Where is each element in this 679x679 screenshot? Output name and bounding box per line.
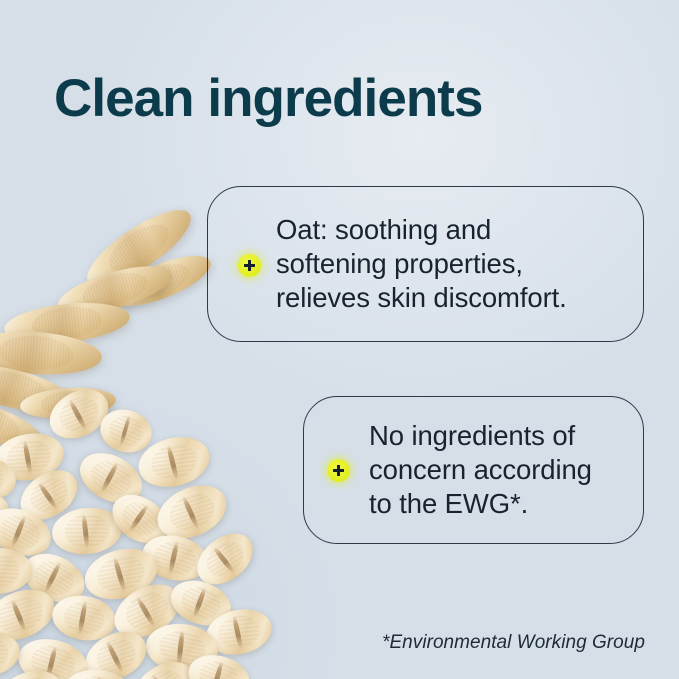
feature-card-ewg-text: No ingredients of concern according to t… [369,419,592,521]
feature-card-ewg[interactable]: No ingredients of concern according to t… [303,396,644,544]
plus-icon [244,260,255,271]
feature-card-oat-text: Oat: soothing and softening properties, … [276,213,567,315]
plus-badge-icon [238,254,261,277]
product-feature-panel: Clean ingredients Oat: soothing and soft… [0,0,679,679]
card-line: No ingredients of [369,419,592,453]
card-line: softening properties, [276,247,567,281]
page-title: Clean ingredients [54,70,483,127]
feature-card-oat[interactable]: Oat: soothing and softening properties, … [207,186,644,342]
card-line: to the EWG*. [369,487,592,521]
plus-badge-icon [327,459,350,482]
plus-icon [333,465,344,476]
card-line: Oat: soothing and [276,213,567,247]
card-line: concern according [369,453,592,487]
card-line: relieves skin discomfort. [276,281,567,315]
footnote: *Environmental Working Group [382,632,645,654]
